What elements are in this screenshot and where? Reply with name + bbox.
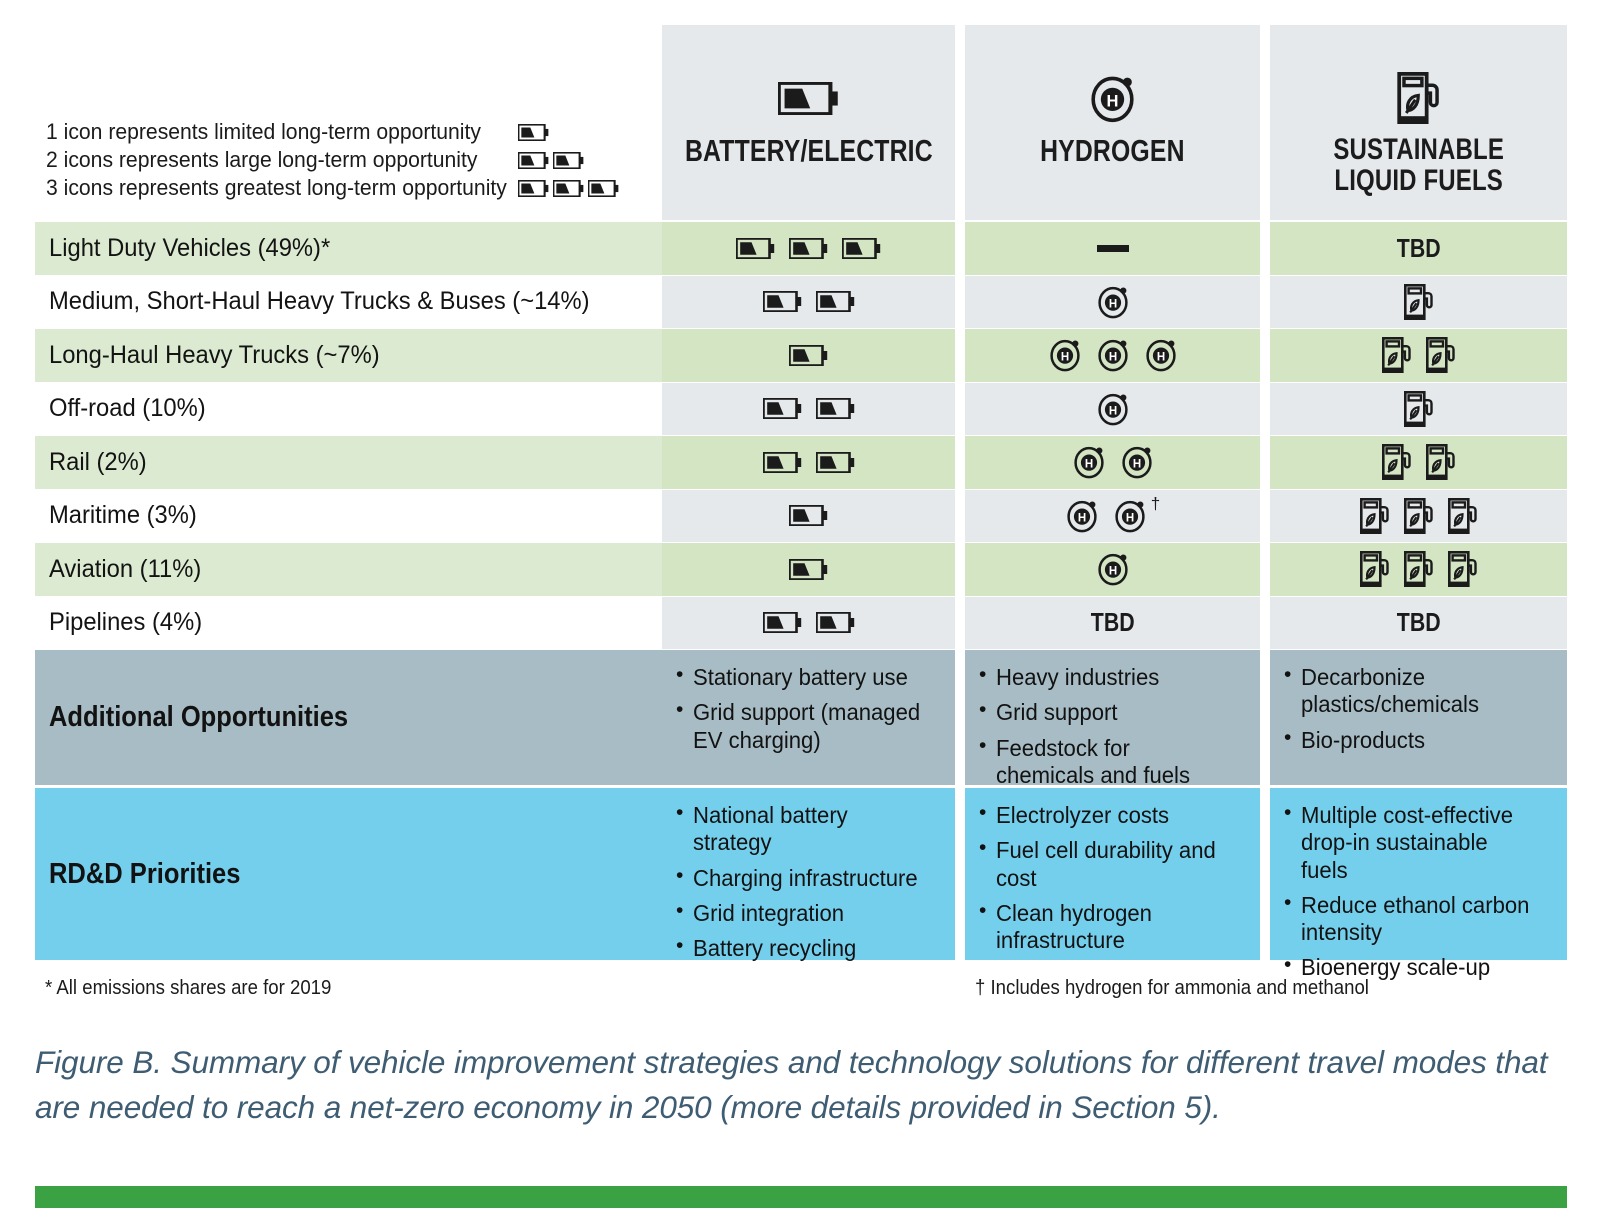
svg-text:H: H (1108, 566, 1116, 578)
legend-item-label: 1 icon represents limited long-term oppo… (46, 119, 516, 145)
battery-icon (736, 238, 775, 259)
dagger-marker: † (1151, 494, 1160, 514)
battery-icon (789, 345, 828, 366)
column-header-3: SUSTAINABLELIQUID FUELS (1270, 25, 1567, 220)
fuel-pump-leaf-icon (1404, 551, 1434, 587)
cell-fuels-row3 (1270, 329, 1567, 382)
battery-icon (778, 82, 839, 115)
battery-icon (518, 152, 549, 169)
bullet-list: Electrolyzer costsFuel cell durability a… (979, 802, 1246, 954)
row-label-text: Aviation (11%) (49, 555, 201, 584)
list-item: Charging infrastructure (676, 865, 941, 892)
rdd-priorities-label: RD&D Priorities (35, 788, 662, 960)
list-item: Bio-products (1284, 727, 1553, 754)
svg-text:H: H (1060, 352, 1068, 364)
list-item: Multiple cost-effective drop-in sustaina… (1284, 802, 1553, 884)
cell-fuels-row5 (1270, 436, 1567, 489)
legend-item-3: 3 icons represents greatest long-term op… (46, 174, 646, 202)
fuel-pump-leaf-icon (1382, 337, 1412, 373)
battery-icon (816, 612, 855, 633)
row-label-6: Maritime (3%) (35, 490, 662, 543)
cell-fuels-row4 (1270, 383, 1567, 436)
battery-icon (816, 452, 855, 473)
green-divider-bar (35, 1186, 1567, 1208)
list-item: Grid support (managed EV charging) (676, 699, 941, 754)
bullet-list: Stationary battery useGrid support (mana… (676, 664, 941, 754)
battery-icon (789, 505, 828, 526)
cell-fuels-row1: TBD (1270, 222, 1567, 275)
bullet-list: National battery strategyCharging infras… (676, 802, 941, 962)
fuel-pump-leaf-icon (1448, 498, 1478, 534)
fuel-pump-leaf-icon (1404, 498, 1434, 534)
hydrogen-atom-icon: H (1048, 338, 1082, 372)
battery-icon (842, 238, 881, 259)
svg-text:H: H (1108, 405, 1116, 417)
list-item: Grid integration (676, 900, 941, 927)
row-label-text: Light Duty Vehicles (49%)* (49, 234, 330, 263)
svg-text:H: H (1078, 512, 1086, 524)
cell-hydrogen-row7: H (965, 543, 1260, 596)
fuel-pump-leaf-icon (1426, 444, 1456, 480)
additional-opportunities-hydrogen: Heavy industriesGrid supportFeedstock fo… (965, 650, 1260, 785)
column-header-label: SUSTAINABLELIQUID FUELS (1333, 135, 1504, 196)
hydrogen-atom-icon: H (1144, 338, 1178, 372)
figure-root: BATTERY/ELECTRICHHYDROGENSUSTAINABLELIQU… (0, 0, 1600, 1214)
list-item: Battery recycling (676, 935, 941, 962)
list-item: Decarbonize plastics/chemicals (1284, 664, 1553, 719)
column-header-label: HYDROGEN (1040, 135, 1185, 167)
list-item: Reduce ethanol carbon intensity (1284, 892, 1553, 947)
list-item: Grid support (979, 699, 1246, 726)
svg-text:H: H (1156, 352, 1164, 364)
footnote-right: † Includes hydrogen for ammonia and meth… (975, 977, 1399, 1000)
legend-item-icons (518, 152, 584, 169)
cell-battery-row3 (662, 329, 955, 382)
cell-hydrogen-row4: H (965, 383, 1260, 436)
row-label-4: Off-road (10%) (35, 383, 662, 436)
list-item: Heavy industries (979, 664, 1246, 691)
rdd-priorities-fuels: Multiple cost-effective drop-in sustaina… (1270, 788, 1567, 960)
fuel-pump-leaf-icon (1397, 72, 1441, 124)
cell-battery-row6 (662, 490, 955, 543)
legend-item-icons (518, 124, 549, 141)
svg-text:H: H (1084, 459, 1092, 471)
svg-text:H: H (1107, 91, 1119, 110)
list-item: Electrolyzer costs (979, 802, 1246, 829)
legend: 1 icon represents limited long-term oppo… (46, 118, 646, 202)
column-header-1: BATTERY/ELECTRIC (662, 25, 955, 220)
hydrogen-atom-icon: H (1088, 74, 1137, 123)
hydrogen-atom-icon: H (1088, 67, 1137, 129)
list-item: Stationary battery use (676, 664, 941, 691)
row-label-7: Aviation (11%) (35, 543, 662, 596)
bullet-list: Heavy industriesGrid supportFeedstock fo… (979, 664, 1246, 789)
row-label-2: Medium, Short-Haul Heavy Trucks & Buses … (35, 276, 662, 329)
list-item: Clean hydrogen infrastructure (979, 900, 1246, 955)
fuel-pump-leaf-icon (1397, 67, 1441, 129)
row-label-8: Pipelines (4%) (35, 597, 662, 650)
fuel-pump-leaf-icon (1360, 551, 1390, 587)
cell-hydrogen-row8: TBD (965, 597, 1260, 650)
legend-item-label: 2 icons represents large long-term oppor… (46, 147, 516, 173)
additional-opportunities-battery: Stationary battery useGrid support (mana… (662, 650, 955, 785)
list-item: Feedstock for chemicals and fuels (979, 735, 1246, 790)
cell-fuels-row6 (1270, 490, 1567, 543)
footnote-left: * All emissions shares are for 2019 (45, 977, 353, 1000)
list-item: National battery strategy (676, 802, 941, 857)
fuel-pump-leaf-icon (1448, 551, 1478, 587)
battery-icon (763, 612, 802, 633)
legend-item-label: 3 icons represents greatest long-term op… (46, 175, 516, 201)
hydrogen-atom-icon: H (1120, 445, 1154, 479)
fuel-pump-leaf-icon (1426, 337, 1456, 373)
battery-icon (778, 67, 839, 129)
svg-text:H: H (1108, 352, 1116, 364)
cell-hydrogen-row1 (965, 222, 1260, 275)
battery-icon (518, 180, 549, 197)
svg-text:H: H (1126, 512, 1134, 524)
rdd-priorities-label-text: RD&D Priorities (49, 858, 240, 891)
row-label-text: Medium, Short-Haul Heavy Trucks & Buses … (49, 287, 590, 316)
row-label-text: Rail (2%) (49, 448, 147, 477)
fuel-pump-leaf-icon (1404, 284, 1434, 320)
hydrogen-atom-icon: H (1072, 445, 1106, 479)
cell-hydrogen-row5: HH (965, 436, 1260, 489)
tbd-label: TBD (1397, 233, 1441, 264)
fuel-pump-leaf-icon (1360, 498, 1390, 534)
cell-battery-row4 (662, 383, 955, 436)
battery-icon (553, 180, 584, 197)
svg-text:H: H (1108, 298, 1116, 310)
additional-opportunities-fuels: Decarbonize plastics/chemicalsBio-produc… (1270, 650, 1567, 785)
battery-icon (588, 180, 619, 197)
cell-fuels-row7 (1270, 543, 1567, 596)
tbd-label: TBD (1397, 607, 1441, 638)
hydrogen-atom-icon: H (1096, 552, 1130, 586)
battery-icon (763, 452, 802, 473)
battery-icon (553, 152, 584, 169)
cell-battery-row8 (662, 597, 955, 650)
figure-caption: Figure B. Summary of vehicle improvement… (35, 1040, 1575, 1129)
column-header-label: BATTERY/ELECTRIC (685, 135, 933, 167)
cell-hydrogen-row2: H (965, 276, 1260, 329)
cell-battery-row5 (662, 436, 955, 489)
fuel-pump-leaf-icon (1382, 444, 1412, 480)
cell-battery-row1 (662, 222, 955, 275)
battery-icon (763, 398, 802, 419)
row-label-3: Long-Haul Heavy Trucks (~7%) (35, 329, 662, 382)
row-label-text: Off-road (10%) (49, 394, 206, 423)
row-label-text: Long-Haul Heavy Trucks (~7%) (49, 341, 380, 370)
legend-item-icons (518, 180, 619, 197)
hydrogen-atom-icon: H (1096, 285, 1130, 319)
rdd-priorities-hydrogen: Electrolyzer costsFuel cell durability a… (965, 788, 1260, 960)
battery-icon (789, 559, 828, 580)
tbd-label: TBD (1091, 607, 1135, 638)
fuel-pump-leaf-icon (1404, 391, 1434, 427)
battery-icon (763, 291, 802, 312)
hydrogen-atom-icon: H (1096, 338, 1130, 372)
hydrogen-atom-icon: H (1065, 499, 1099, 533)
dash-icon (1097, 245, 1129, 252)
bullet-list: Multiple cost-effective drop-in sustaina… (1284, 802, 1553, 982)
rdd-priorities-battery: National battery strategyCharging infras… (662, 788, 955, 960)
battery-icon (816, 291, 855, 312)
battery-icon (816, 398, 855, 419)
list-item: Fuel cell durability and cost (979, 837, 1246, 892)
row-label-1: Light Duty Vehicles (49%)* (35, 222, 662, 275)
legend-item-2: 2 icons represents large long-term oppor… (46, 146, 646, 174)
additional-opportunities-label: Additional Opportunities (35, 650, 662, 785)
battery-icon (518, 124, 549, 141)
cell-hydrogen-row3: HHH (965, 329, 1260, 382)
cell-battery-row2 (662, 276, 955, 329)
cell-hydrogen-row6: HH† (965, 490, 1260, 543)
bullet-list: Decarbonize plastics/chemicalsBio-produc… (1284, 664, 1553, 754)
row-label-text: Pipelines (4%) (49, 608, 202, 637)
legend-item-1: 1 icon represents limited long-term oppo… (46, 118, 646, 146)
cell-battery-row7 (662, 543, 955, 596)
row-label-5: Rail (2%) (35, 436, 662, 489)
additional-opportunities-label-text: Additional Opportunities (49, 701, 348, 734)
cell-fuels-row8: TBD (1270, 597, 1567, 650)
row-label-text: Maritime (3%) (49, 501, 197, 530)
hydrogen-atom-icon: H (1096, 392, 1130, 426)
battery-icon (789, 238, 828, 259)
column-header-2: HHYDROGEN (965, 25, 1260, 220)
cell-fuels-row2 (1270, 276, 1567, 329)
hydrogen-atom-icon: H (1113, 499, 1147, 533)
svg-text:H: H (1132, 459, 1140, 471)
